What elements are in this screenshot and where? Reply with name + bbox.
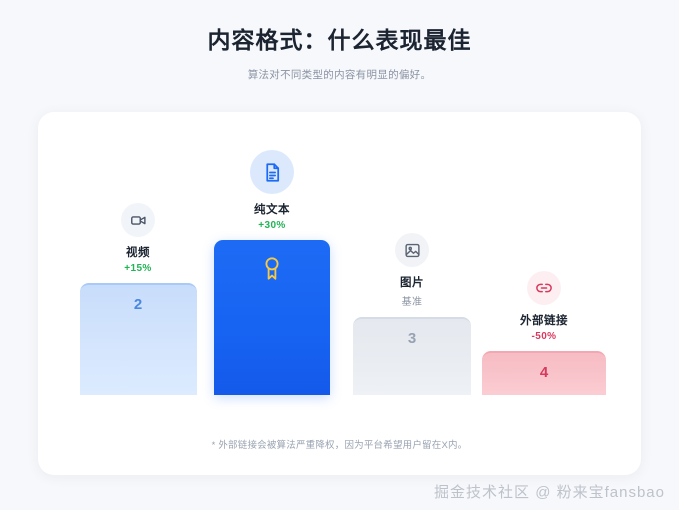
image-picture-icon <box>404 242 421 259</box>
image-picture-icon-badge <box>395 233 429 267</box>
video-camera-icon-badge <box>121 203 155 237</box>
chart-column-image: 图片 基准 3 <box>350 233 474 395</box>
delta-label-text: +30% <box>258 220 285 231</box>
chart-footnote: * 外部链接会被算法严重降权，因为平台希望用户留在X内。 <box>38 437 641 451</box>
delta-label-image: 基准 <box>402 293 423 308</box>
link-chain-icon <box>535 279 553 297</box>
bar-rank-image: 3 <box>408 330 416 395</box>
document-text-icon <box>262 162 283 183</box>
bar-chart: 视频 +15% 2 纯文本 + <box>38 112 641 475</box>
bar-text[interactable] <box>214 240 330 395</box>
delta-label-video: +15% <box>124 263 151 274</box>
chart-column-text: 纯文本 +30% <box>210 150 334 395</box>
link-chain-icon-badge <box>527 271 561 305</box>
infographic-page: 内容格式：什么表现最佳 算法对不同类型的内容有明显的偏好。 视频 +15% <box>0 0 679 510</box>
watermark: 掘金技术社区 @ 粉来宝fansbao <box>434 481 665 502</box>
page-title: 内容格式：什么表现最佳 <box>0 26 679 56</box>
chart-column-video: 视频 +15% 2 <box>76 203 200 395</box>
page-subtitle: 算法对不同类型的内容有明显的偏好。 <box>0 67 679 82</box>
category-label-link: 外部链接 <box>520 312 568 328</box>
category-label-video: 视频 <box>126 244 150 260</box>
bar-image[interactable]: 3 <box>353 317 471 395</box>
chart-card: 视频 +15% 2 纯文本 + <box>38 112 641 475</box>
category-label-image: 图片 <box>400 274 424 290</box>
header: 内容格式：什么表现最佳 算法对不同类型的内容有明显的偏好。 <box>0 0 679 82</box>
category-label-text: 纯文本 <box>254 201 290 217</box>
bar-link[interactable]: 4 <box>482 351 606 395</box>
award-medal-icon <box>261 256 283 287</box>
delta-label-link: -50% <box>532 331 557 342</box>
bar-rank-link: 4 <box>540 364 548 395</box>
document-text-icon-badge <box>250 150 294 194</box>
bar-video[interactable]: 2 <box>80 283 197 395</box>
chart-column-link: 外部链接 -50% 4 <box>482 271 606 395</box>
bar-rank-video: 2 <box>134 296 142 395</box>
video-camera-icon <box>130 212 147 229</box>
